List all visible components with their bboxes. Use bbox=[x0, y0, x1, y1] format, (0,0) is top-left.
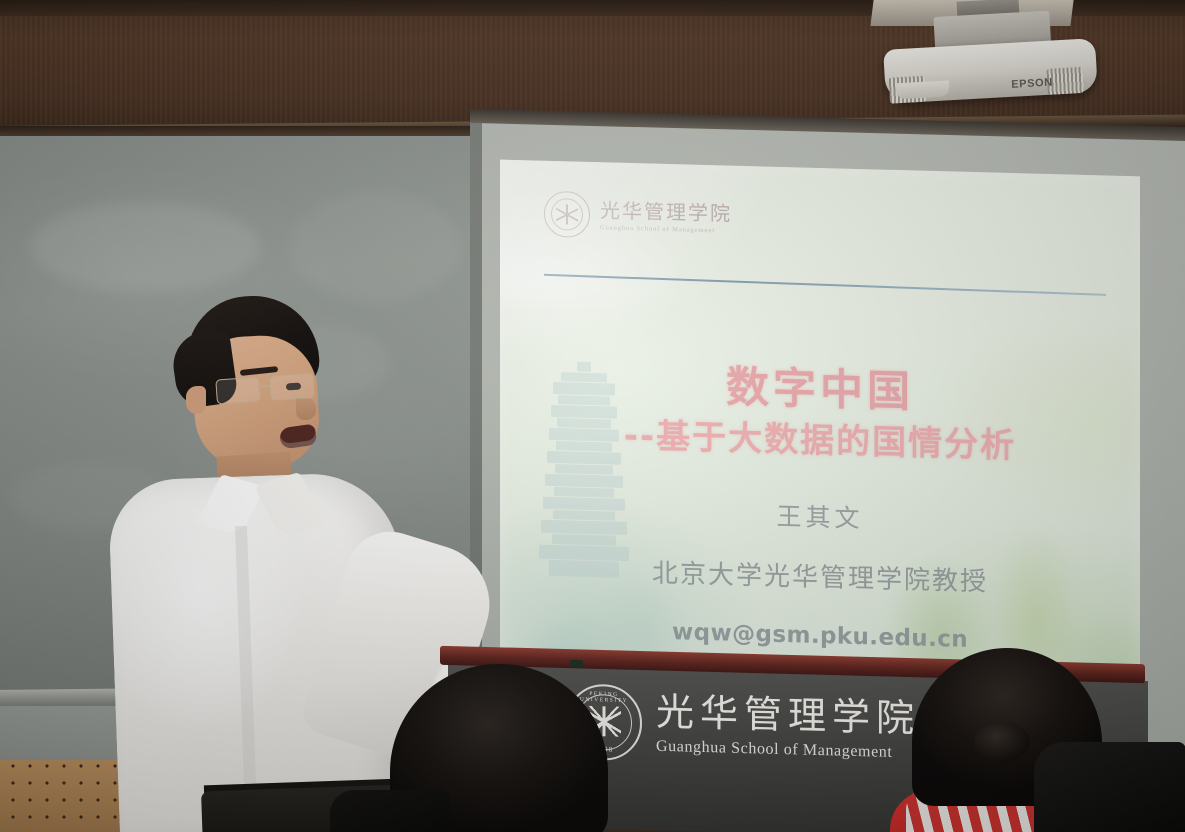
podium-knob bbox=[570, 660, 583, 667]
speaker-nose bbox=[296, 398, 316, 420]
projector-brand-label: EPSON bbox=[1011, 77, 1053, 91]
audience-hair-bun bbox=[974, 722, 1030, 762]
audience-figure-far-right bbox=[1034, 742, 1185, 832]
slide-divider-rule bbox=[544, 274, 1106, 296]
slide-logo: 光华管理学院 Guanghua School of Management bbox=[544, 191, 732, 242]
peking-university-seal-icon bbox=[544, 191, 590, 238]
projector: EPSON bbox=[882, 20, 1098, 104]
speaker-mouth bbox=[279, 424, 318, 450]
audience-shoulder-left bbox=[330, 790, 450, 832]
projector-lens bbox=[895, 80, 950, 99]
slide-logo-english: Guanghua School of Management bbox=[600, 224, 732, 234]
podium-label-chinese: 光华管理学院 bbox=[656, 692, 920, 737]
podium-label-english: Guanghua School of Management bbox=[656, 737, 920, 762]
slide-logo-chinese: 光华管理学院 bbox=[600, 200, 732, 224]
lecture-hall-photo: 光华管理学院 Guanghua School of Management 数字中… bbox=[0, 0, 1185, 832]
speaker-ear bbox=[186, 386, 206, 414]
podium-logo: PEKING UNIVERSITY 1898 光华管理学院 Guanghua S… bbox=[566, 683, 920, 768]
chalkboard-frame bbox=[0, 126, 520, 136]
projected-slide: 光华管理学院 Guanghua School of Management 数字中… bbox=[500, 160, 1140, 707]
